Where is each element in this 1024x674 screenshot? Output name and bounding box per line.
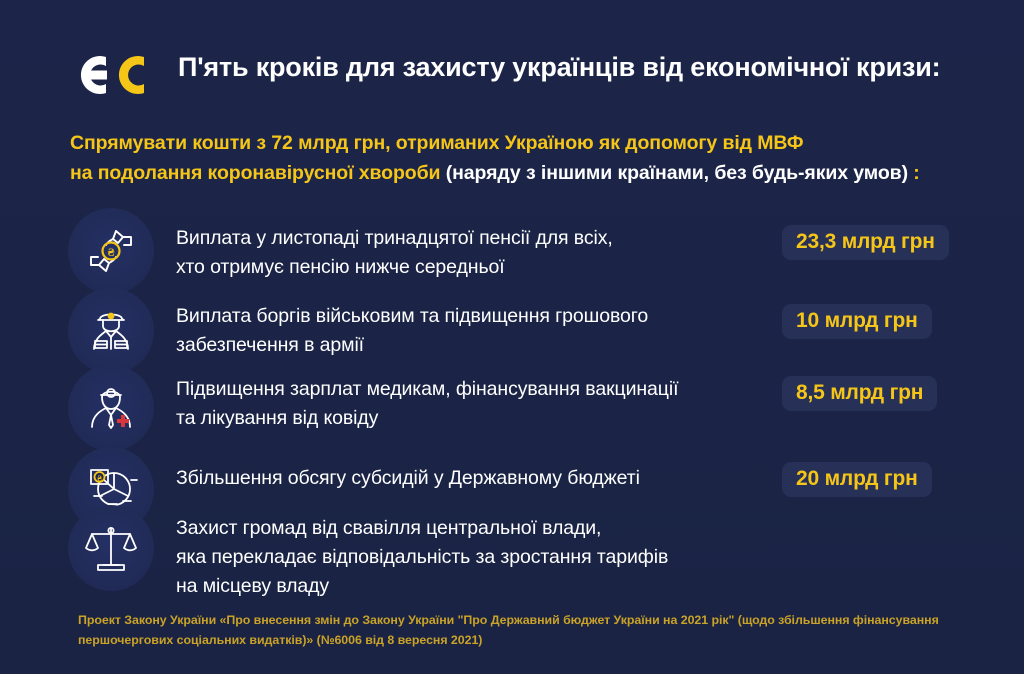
list-item-text: Виплата у листопаді тринадцятої пенсії д… bbox=[176, 224, 613, 282]
header: П'ять кроків для захисту українців від е… bbox=[0, 44, 1024, 106]
subtitle-line-2-highlight: на подолання коронавірусної хвороби bbox=[70, 162, 440, 184]
status-badge: 20 млрд грн bbox=[782, 462, 932, 497]
svg-text:₴: ₴ bbox=[97, 474, 102, 483]
hands-holding-hryvnia-coin-icon: ₴ bbox=[68, 208, 154, 294]
scales-of-justice-icon bbox=[68, 505, 154, 591]
subtitle-line-1: Спрямувати кошти з 72 млрд грн, отримани… bbox=[70, 128, 970, 158]
footer-line-1: Проект Закону України «Про внесення змін… bbox=[78, 610, 978, 630]
subtitle-line-2-note: (наряду з іншими країнами, без будь-яких… bbox=[440, 162, 913, 184]
logo-letter-es-icon bbox=[119, 56, 144, 94]
footer-legal-note: Проект Закону України «Про внесення змін… bbox=[78, 610, 978, 650]
european-solidarity-logo bbox=[70, 46, 154, 104]
subtitle-line-2-colon: : bbox=[913, 162, 919, 184]
list-item-text: Збільшення обсягу субсидій у Державному … bbox=[176, 464, 640, 493]
list-item-text: Захист громад від свавілля центральної в… bbox=[176, 514, 668, 601]
status-badge: 8,5 млрд грн bbox=[782, 376, 937, 411]
svg-text:₴: ₴ bbox=[108, 245, 115, 259]
footer-line-2: першочергових соціальних видатків)» (№60… bbox=[78, 630, 978, 650]
list-item-text: Виплата боргів військовим та підвищення … bbox=[176, 302, 648, 360]
subtitle-block: Спрямувати кошти з 72 млрд грн, отримани… bbox=[70, 128, 970, 188]
subtitle-line-2: на подолання коронавірусної хвороби (нар… bbox=[70, 158, 970, 188]
logo-letter-ye-icon bbox=[81, 56, 107, 94]
infographic-page: П'ять кроків для захисту українців від е… bbox=[0, 0, 1024, 674]
doctor-icon bbox=[68, 365, 154, 451]
list-item-text: Підвищення зарплат медикам, фінансування… bbox=[176, 375, 678, 433]
page-title: П'ять кроків для захисту українців від е… bbox=[178, 52, 978, 83]
soldier-icon bbox=[68, 288, 154, 374]
status-badge: 23,3 млрд грн bbox=[782, 225, 949, 260]
status-badge: 10 млрд грн bbox=[782, 304, 932, 339]
